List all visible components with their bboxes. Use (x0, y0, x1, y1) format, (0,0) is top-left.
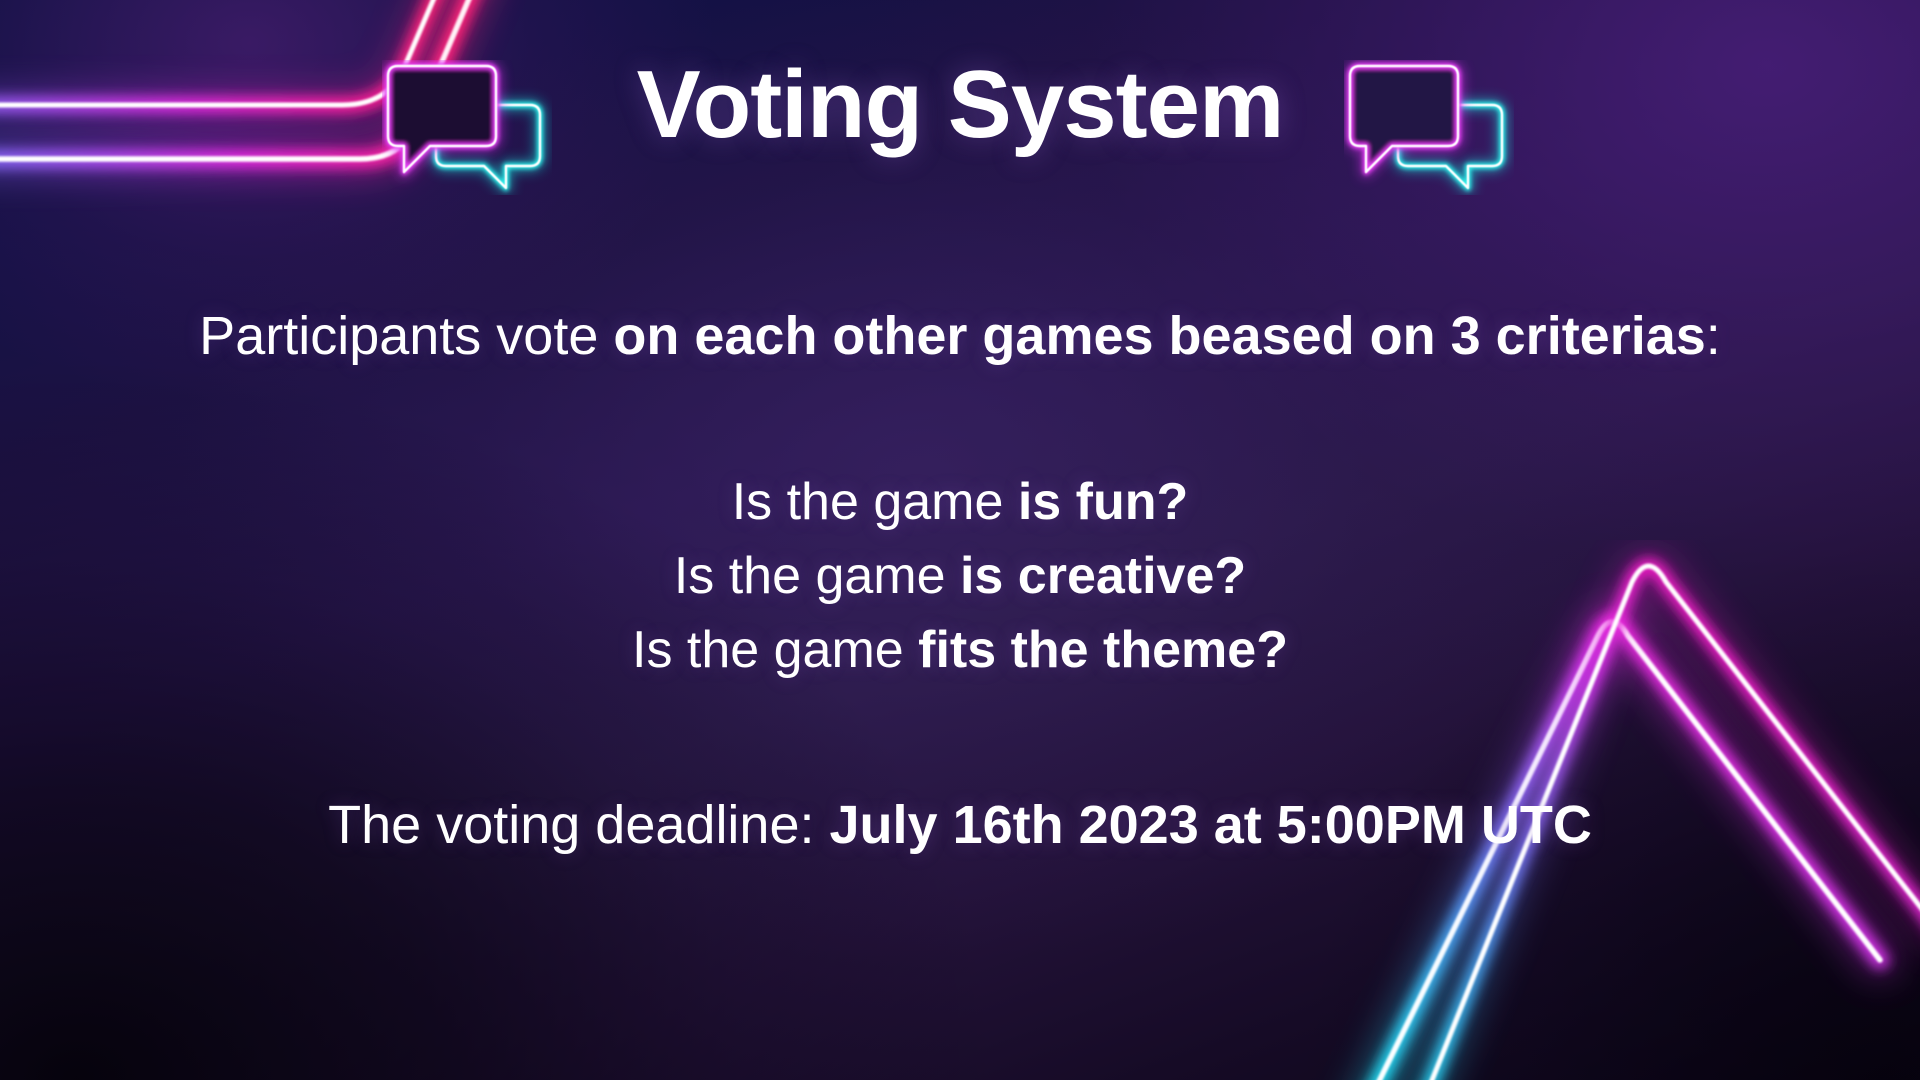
criterion-bold-text: fits the theme? (918, 621, 1288, 679)
criterion-bold-text: is creative? (960, 547, 1246, 605)
intro-regular-text: Participants vote (199, 306, 613, 366)
list-item: Is the game fits the theme? (100, 614, 1820, 688)
intro-paragraph: Participants vote on each other games be… (100, 300, 1820, 372)
criterion-bold-text: is fun? (1018, 473, 1188, 531)
deadline-value-text: July 16th 2023 at 5:00PM UTC (830, 795, 1592, 855)
body-block: Participants vote on each other games be… (100, 300, 1820, 860)
list-item: Is the game is creative? (100, 540, 1820, 614)
title-row: Voting System (0, 52, 1920, 158)
criterion-regular-text: Is the game (632, 621, 918, 679)
criterion-regular-text: Is the game (674, 547, 960, 605)
intro-bold-text: on each other games beased on 3 criteria… (613, 306, 1705, 366)
criteria-list: Is the game is fun? Is the game is creat… (100, 466, 1820, 687)
criterion-regular-text: Is the game (732, 473, 1018, 531)
slide-content: Voting System Participants vote on each … (0, 0, 1920, 1080)
deadline-label-text: The voting deadline: (328, 795, 829, 855)
slide-root: Voting System Participants vote on each … (0, 0, 1920, 1080)
deadline-paragraph: The voting deadline: July 16th 2023 at 5… (100, 790, 1820, 860)
page-title: Voting System (637, 52, 1284, 158)
intro-tail-text: : (1706, 306, 1721, 366)
list-item: Is the game is fun? (100, 466, 1820, 540)
